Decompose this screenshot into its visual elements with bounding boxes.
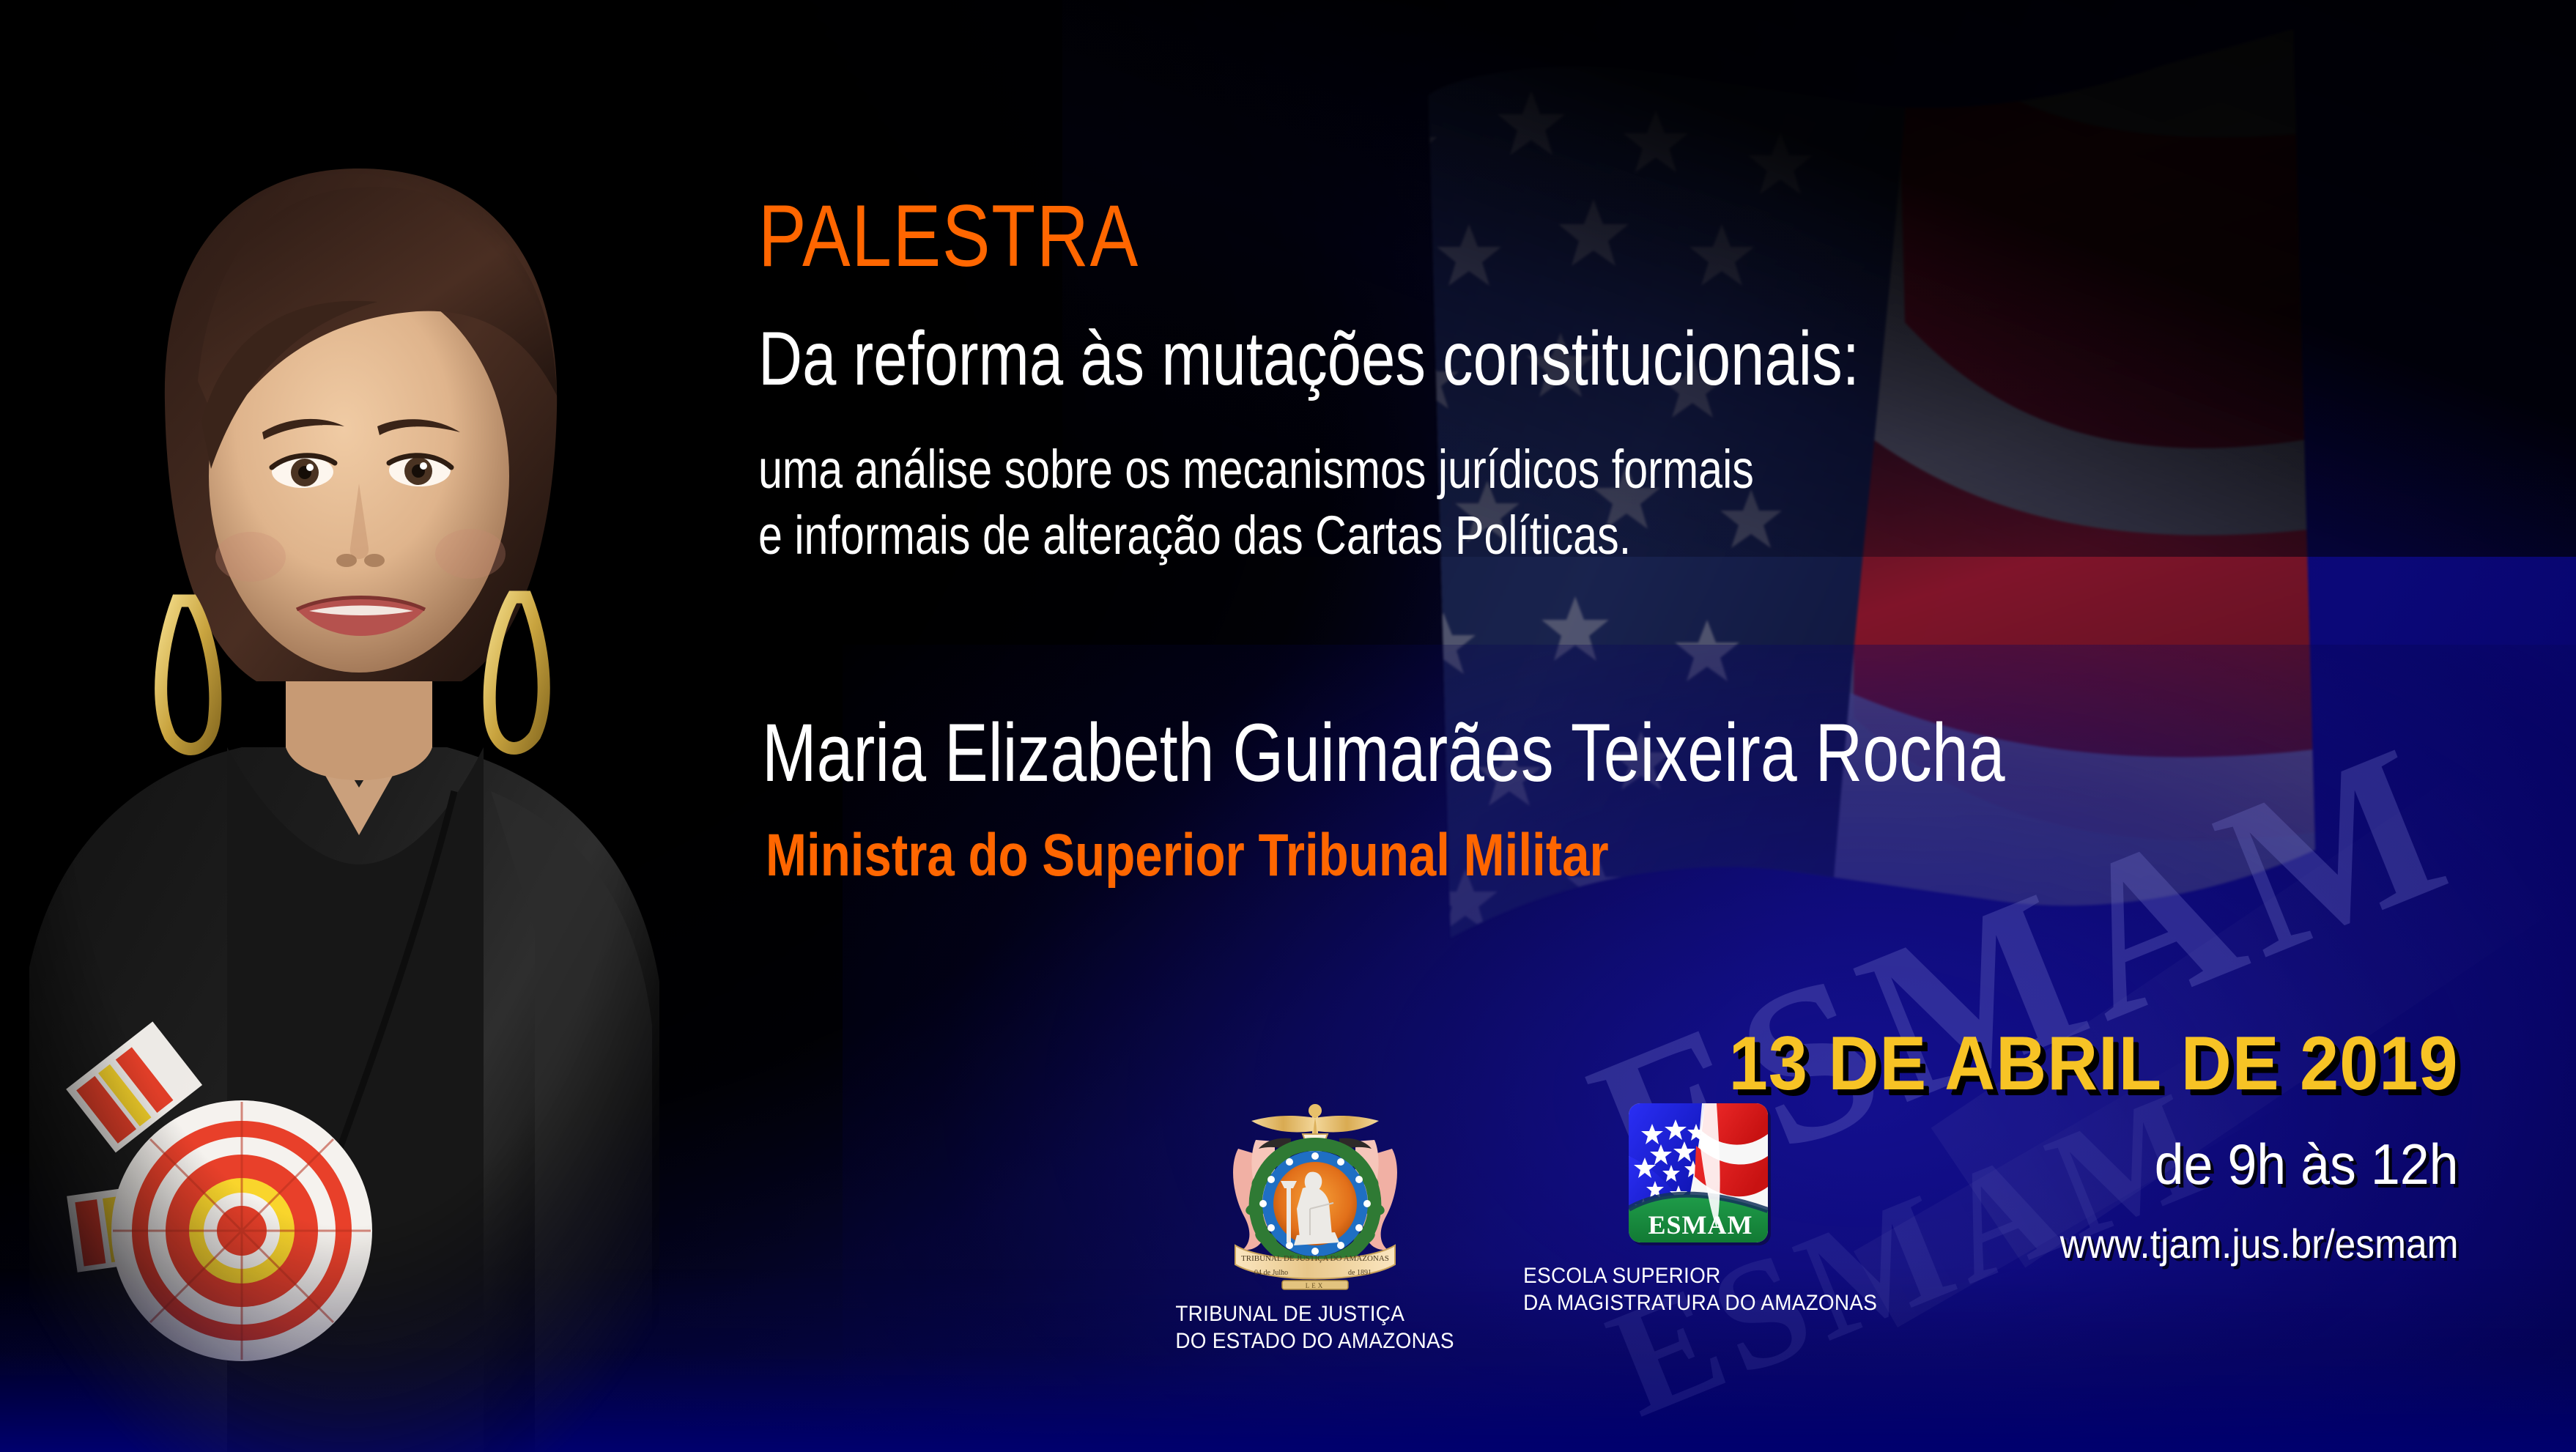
tjam-caption-line1: TRIBUNAL DE JUSTIÇA bbox=[1175, 1301, 1454, 1328]
tjam-ribbon-right: de 1891 bbox=[1348, 1269, 1372, 1277]
event-date: 13 DE ABRIL DE 2019 bbox=[1729, 1026, 2459, 1102]
esmam-flag-icon: ESMAM bbox=[1623, 1099, 1778, 1253]
tjam-logo-block: TRIBUNAL DE JUSTIÇA DO AMAZONAS 04 de Ju… bbox=[1165, 1099, 1465, 1355]
esmam-caption: ESCOLA SUPERIOR DA MAGISTRATURA DO AMAZO… bbox=[1523, 1263, 1877, 1316]
lecture-subtitle-line2: e informais de alteração das Cartas Polí… bbox=[758, 503, 1754, 568]
esmam-caption-line1: ESCOLA SUPERIOR bbox=[1523, 1263, 1877, 1290]
lecture-subtitle: uma análise sobre os mecanismos jurídico… bbox=[758, 437, 1754, 569]
tjam-coat-of-arms-icon: TRIBUNAL DE JUSTIÇA DO AMAZONAS 04 de Ju… bbox=[1224, 1099, 1407, 1291]
earring-left bbox=[161, 601, 215, 749]
esmam-logo-block: ESMAM ESCOLA SUPERIOR DA MAGISTRATURA DO… bbox=[1510, 1099, 1890, 1316]
tjam-base-text: LEX bbox=[1305, 1282, 1325, 1289]
speaker-role: Ministra do Superior Tribunal Militar bbox=[766, 826, 1609, 886]
kicker-wrap: PALESTRA bbox=[758, 192, 1223, 280]
tjam-caption: TRIBUNAL DE JUSTIÇA DO ESTADO DO AMAZONA… bbox=[1175, 1301, 1454, 1355]
speaker-portrait bbox=[0, 88, 718, 1452]
lecture-subtitle-line1: uma análise sobre os mecanismos jurídico… bbox=[758, 437, 1754, 503]
lecture-title: Da reforma às mutações constitucionais: bbox=[758, 319, 1859, 399]
esmam-wordmark: ESMAM bbox=[1648, 1210, 1753, 1240]
speaker-name: Maria Elizabeth Guimarães Teixeira Rocha bbox=[762, 712, 2005, 794]
esmam-caption-line2: DA MAGISTRATURA DO AMAZONAS bbox=[1523, 1290, 1877, 1317]
logo-row: TRIBUNAL DE JUSTIÇA DO AMAZONAS 04 de Ju… bbox=[1165, 1099, 1890, 1355]
earring-right bbox=[489, 597, 544, 748]
tjam-caption-line2: DO ESTADO DO AMAZONAS bbox=[1175, 1328, 1454, 1355]
kicker-palestra: PALESTRA bbox=[758, 192, 1139, 280]
poster-canvas: ESMAM ESMAM bbox=[0, 0, 2576, 1452]
tjam-ribbon-left: 04 de Julho bbox=[1254, 1269, 1288, 1277]
tjam-ribbon-text: TRIBUNAL DE JUSTIÇA DO AMAZONAS bbox=[1241, 1254, 1389, 1263]
